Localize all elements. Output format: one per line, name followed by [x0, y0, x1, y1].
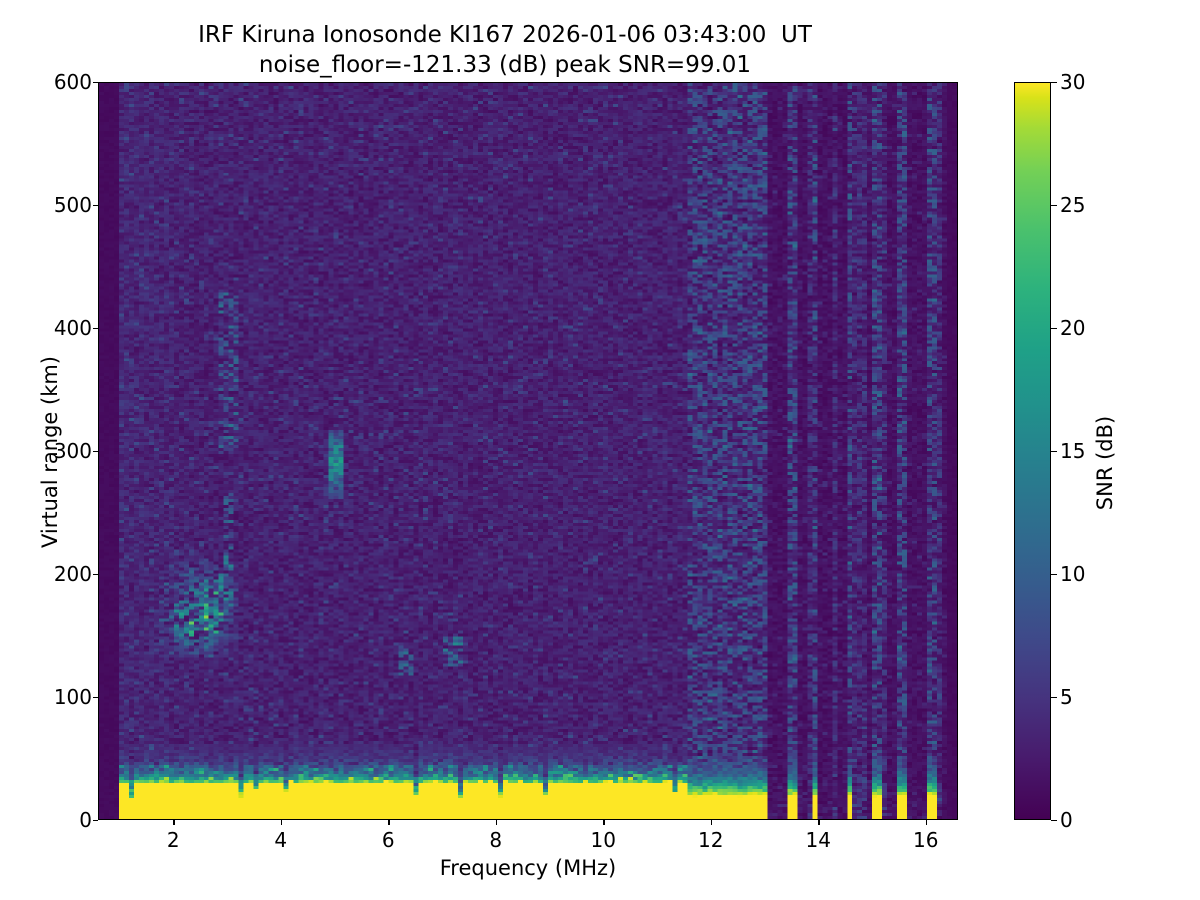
figure-title-line-1: IRF Kiruna Ionosonde KI167 2026-01-06 03…	[0, 20, 1010, 50]
x-ticklabel: 2	[167, 828, 180, 852]
x-ticklabel: 16	[913, 828, 938, 852]
y-tick	[93, 328, 98, 329]
x-tick	[711, 820, 712, 825]
x-tick	[173, 820, 174, 825]
x-ticklabel: 10	[591, 828, 616, 852]
y-ticklabel: 0	[79, 808, 92, 832]
colorbar-tick	[1051, 820, 1057, 821]
colorbar-ticks	[1051, 82, 1057, 820]
y-tick	[93, 205, 98, 206]
ionogram-figure: IRF Kiruna Ionosonde KI167 2026-01-06 03…	[0, 0, 1200, 900]
ionogram-heatmap	[99, 83, 957, 819]
y-axis-title: Virtual range (km)	[38, 72, 62, 832]
colorbar-ticklabel: 25	[1060, 193, 1085, 217]
x-tick	[388, 820, 389, 825]
y-tick	[93, 451, 98, 452]
y-axis-ticks	[93, 82, 98, 820]
figure-title-line-2: noise_floor=-121.33 (dB) peak SNR=99.01	[0, 50, 1010, 80]
colorbar-tick	[1051, 328, 1057, 329]
colorbar-tick	[1051, 451, 1057, 452]
x-ticklabel: 4	[274, 828, 287, 852]
x-tick	[818, 820, 819, 825]
colorbar-tick	[1051, 574, 1057, 575]
x-tick	[926, 820, 927, 825]
x-axis-ticks	[98, 820, 958, 826]
colorbar-ticklabel: 15	[1060, 439, 1085, 463]
figure-title: IRF Kiruna Ionosonde KI167 2026-01-06 03…	[0, 20, 1010, 80]
x-ticklabel: 6	[382, 828, 395, 852]
colorbar-tick	[1051, 82, 1057, 83]
x-tick	[281, 820, 282, 825]
x-ticklabel: 8	[489, 828, 502, 852]
y-tick	[93, 82, 98, 83]
colorbar-gradient	[1014, 82, 1051, 820]
colorbar-tick	[1051, 697, 1057, 698]
ionogram-plot-area[interactable]	[98, 82, 958, 820]
y-tick	[93, 574, 98, 575]
colorbar-tick	[1051, 205, 1057, 206]
x-tick	[603, 820, 604, 825]
colorbar-ticklabel: 20	[1060, 316, 1085, 340]
colorbar-ticklabel: 10	[1060, 562, 1085, 586]
x-axis-title: Frequency (MHz)	[98, 856, 958, 880]
colorbar-ticklabel: 5	[1060, 685, 1073, 709]
x-ticklabel: 12	[698, 828, 723, 852]
y-tick	[93, 697, 98, 698]
colorbar-title: SNR (dB)	[1093, 313, 1117, 613]
x-axis-ticklabels: 246810121416	[98, 828, 958, 858]
x-ticklabel: 14	[806, 828, 831, 852]
colorbar-ticklabel: 30	[1060, 70, 1085, 94]
x-tick	[496, 820, 497, 825]
ionogram-canvas	[99, 83, 957, 819]
colorbar-ticklabel: 0	[1060, 808, 1073, 832]
